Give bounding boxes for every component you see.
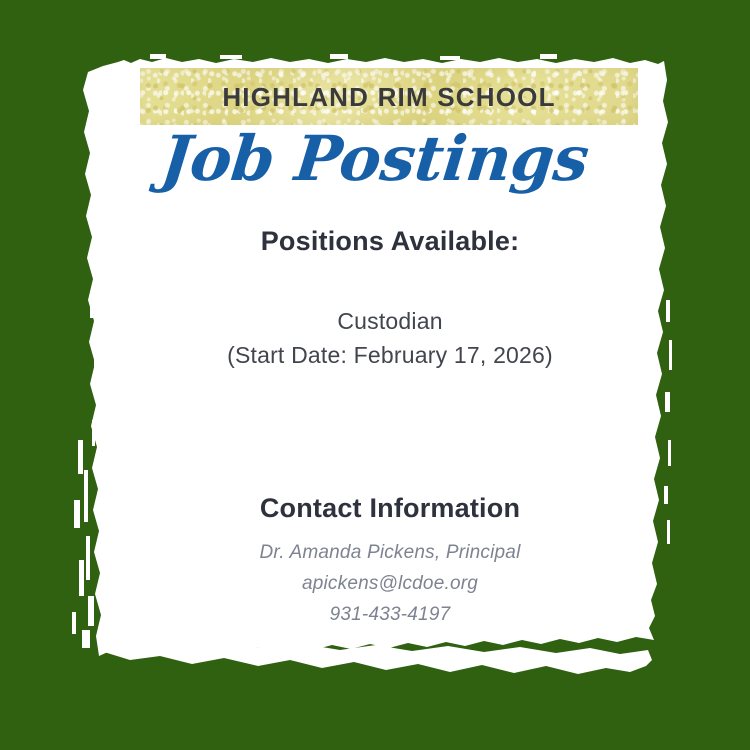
job-posting-poster: HIGHLAND RIM SCHOOL Job Postings Positio… (0, 0, 750, 750)
contact-section: Contact Information Dr. Amanda Pickens, … (120, 492, 660, 631)
contact-name: Dr. Amanda Pickens, Principal (120, 538, 660, 569)
position-title: Custodian (120, 305, 660, 338)
contact-information-heading: Contact Information (120, 492, 660, 524)
positions-list: Custodian (Start Date: February 17, 2026… (120, 305, 660, 372)
school-name-banner: HIGHLAND RIM SCHOOL (140, 68, 638, 125)
positions-section: Positions Available: Custodian (Start Da… (120, 225, 660, 372)
contact-phone: 931-433-4197 (120, 600, 660, 631)
school-name-text: HIGHLAND RIM SCHOOL (222, 84, 555, 110)
positions-available-heading: Positions Available: (120, 225, 660, 257)
position-start-date: (Start Date: February 17, 2026) (120, 339, 660, 372)
contact-email: apickens@lcdoe.org (120, 569, 660, 600)
page-title: Job Postings (0, 126, 750, 191)
